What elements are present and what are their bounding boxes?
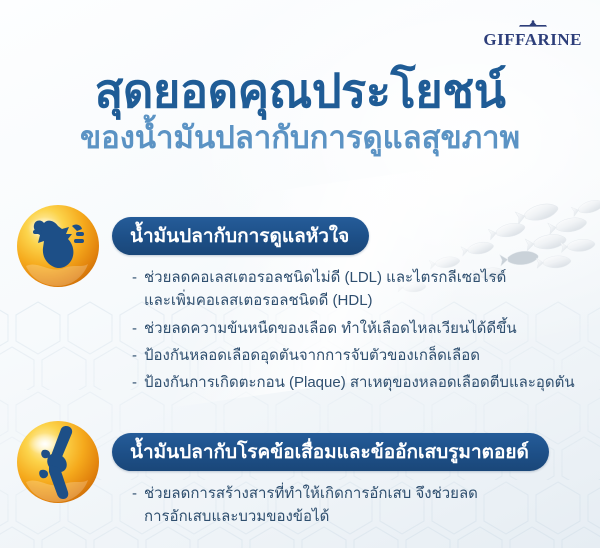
page-title: สุดยอดคุณประโยชน์ <box>0 66 600 115</box>
bullet-text: ป้องกันหลอดเลือดอุดตันจากการจับตัวของเกล… <box>144 344 480 367</box>
list-item: - ช่วยลดการสร้างสารที่ทำให้เกิดการอักเสบ… <box>132 482 580 529</box>
page-subtitle: ของน้ำมันปลากับการดูแลสุขภาพ <box>0 121 600 155</box>
bullet-text: ช่วยลดความข้นหนืดของเลือด ทำให้เลือดไหลเ… <box>144 317 517 340</box>
bullet-list-heart: - ช่วยลดคอเลสเตอรอลชนิดไม่ดี (LDL) และไต… <box>132 266 580 398</box>
list-item: - ช่วยลดความข้นหนืดของเลือด ทำให้เลือดไห… <box>132 317 580 340</box>
infographic-poster: GIFFARINE สุดยอดคุณประโยชน์ ของน้ำมันปลา… <box>0 0 600 548</box>
section-heart: น้ำมันปลากับการดูแลหัวใจ - ช่วยลดคอเลสเต… <box>0 204 600 288</box>
logo-wordmark: GIFFARINE <box>483 31 582 48</box>
bullet-text: ป้องกันการเกิดตะกอน (Plaque) สาเหตุของหล… <box>144 371 575 394</box>
banner-joint: น้ำมันปลากับโรคข้อเสื่อมและข้ออักเสบรูมา… <box>112 433 549 471</box>
list-item: - ป้องกันหลอดเลือดอุดตันจากการจับตัวของเ… <box>132 344 580 367</box>
bullet-dash: - <box>132 317 137 340</box>
banner-joint-label: น้ำมันปลากับโรคข้อเสื่อมและข้ออักเสบรูมา… <box>130 443 529 462</box>
bullet-dash: - <box>132 266 137 289</box>
bullet-dash: - <box>132 344 137 367</box>
section-joint: น้ำมันปลากับโรคข้อเสื่อมและข้ออักเสบรูมา… <box>0 420 600 504</box>
anatomical-heart-icon <box>16 204 100 288</box>
banner-heart-label: น้ำมันปลากับการดูแลหัวใจ <box>130 227 349 246</box>
giffarine-logo: GIFFARINE <box>483 20 582 48</box>
list-item: - ช่วยลดคอเลสเตอรอลชนิดไม่ดี (LDL) และไต… <box>132 266 580 313</box>
bullet-dash: - <box>132 371 137 394</box>
bullet-dash: - <box>132 482 137 505</box>
list-item: - ป้องกันการเกิดตะกอน (Plaque) สาเหตุของ… <box>132 371 580 394</box>
title-block: สุดยอดคุณประโยชน์ ของน้ำมันปลากับการดูแล… <box>0 66 600 155</box>
bullet-text: ช่วยลดคอเลสเตอรอลชนิดไม่ดี (LDL) และไตรก… <box>144 266 506 313</box>
bullet-text: ช่วยลดการสร้างสารที่ทำให้เกิดการอักเสบ จ… <box>144 482 478 529</box>
bullet-list-joint: - ช่วยลดการสร้างสารที่ทำให้เกิดการอักเสบ… <box>132 482 580 533</box>
knee-joint-bone-icon <box>16 420 100 504</box>
banner-heart: น้ำมันปลากับการดูแลหัวใจ <box>112 217 369 255</box>
